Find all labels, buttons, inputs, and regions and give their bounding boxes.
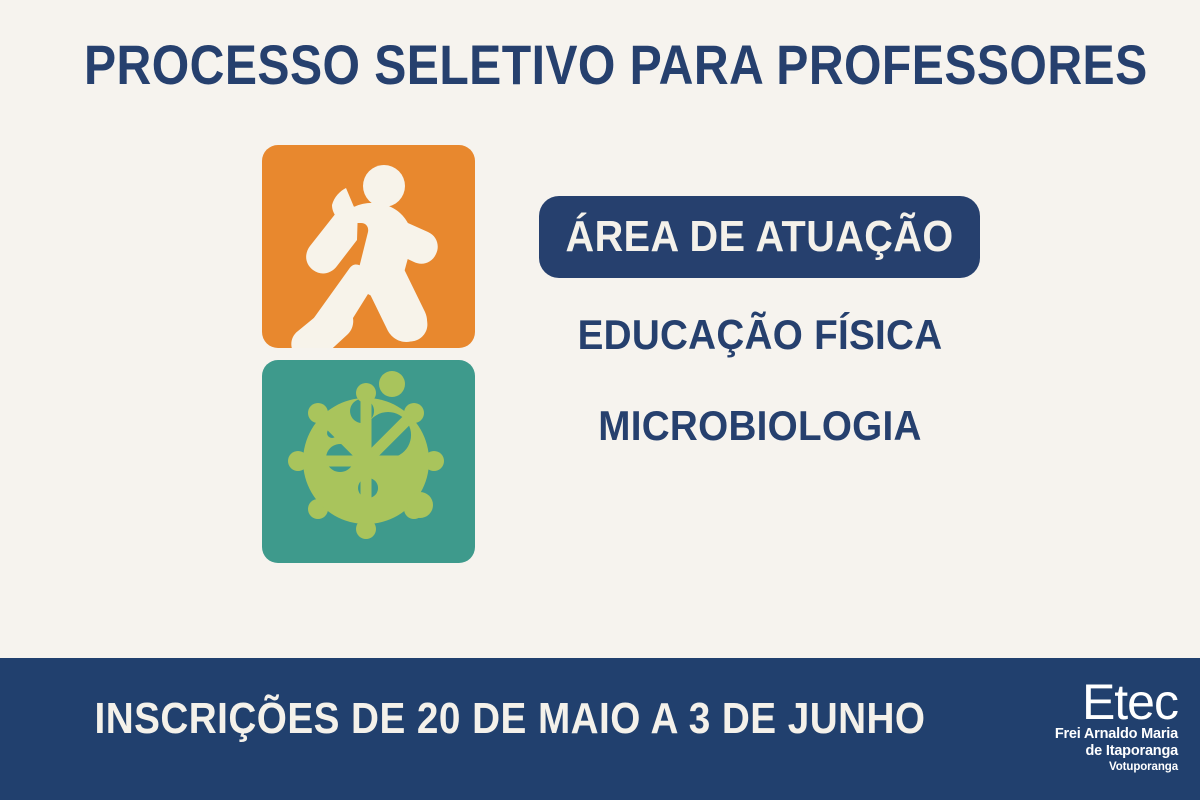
page-title: PROCESSO SELETIVO PARA PROFESSORES (84, 34, 1116, 96)
area-item-educacao-fisica: EDUCAÇÃO FÍSICA (521, 311, 999, 359)
etec-logo: Etec Frei Arnaldo Maria de Itaporanga Vo… (1008, 678, 1178, 775)
microbiology-icon-tile (262, 360, 475, 563)
etec-school-line-2: de Itaporanga (1008, 743, 1178, 760)
area-badge: ÁREA DE ATUAÇÃO (539, 196, 980, 278)
running-person-icon (262, 145, 475, 348)
poster-canvas: PROCESSO SELETIVO PARA PROFESSORES (0, 0, 1200, 800)
sport-icon-tile (262, 145, 475, 348)
etec-wordmark: Etec (1008, 678, 1178, 726)
etec-city: Votuporanga (1008, 760, 1178, 775)
area-item-microbiologia: MICROBIOLOGIA (521, 402, 999, 450)
virus-icon (262, 360, 475, 563)
inscription-period-text: INSCRIÇÕES DE 20 DE MAIO A 3 DE JUNHO (61, 694, 959, 744)
etec-school-line-1: Frei Arnaldo Maria (1008, 726, 1178, 743)
area-badge-label: ÁREA DE ATUAÇÃO (565, 212, 953, 262)
